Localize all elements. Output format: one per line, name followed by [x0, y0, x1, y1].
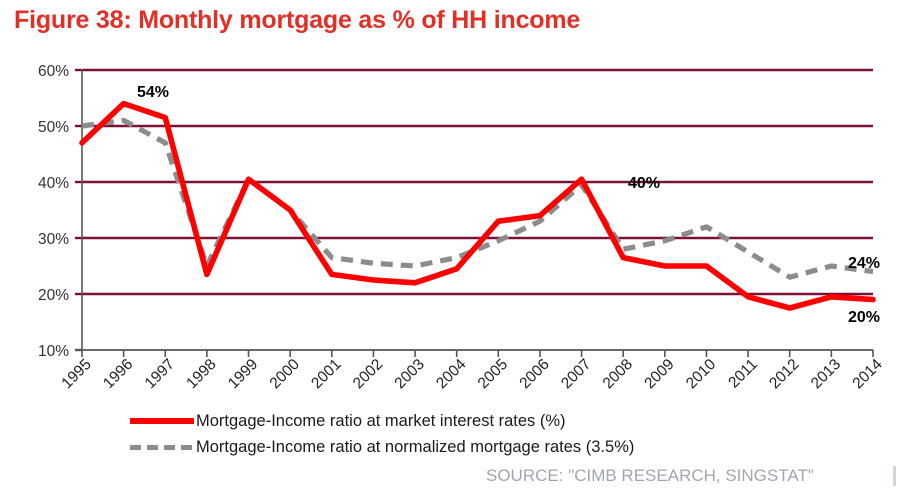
- svg-text:2012: 2012: [766, 356, 802, 392]
- svg-text:50%: 50%: [38, 119, 69, 136]
- svg-text:20%: 20%: [38, 287, 69, 304]
- svg-text:2005: 2005: [475, 356, 511, 392]
- figure-container: Figure 38: Monthly mortgage as % of HH i…: [0, 0, 900, 498]
- legend-label-market: Mortgage-Income ratio at market interest…: [196, 412, 566, 431]
- svg-text:2004: 2004: [433, 356, 470, 393]
- series-line-market: [82, 104, 873, 308]
- svg-text:1998: 1998: [183, 356, 219, 392]
- svg-text:2000: 2000: [267, 356, 304, 393]
- svg-text:1997: 1997: [142, 356, 178, 392]
- svg-text:1995: 1995: [58, 356, 94, 392]
- chart-legend: Mortgage-Income ratio at market interest…: [128, 408, 868, 460]
- y-tick-marks-group: [75, 70, 82, 350]
- svg-text:2008: 2008: [600, 356, 636, 392]
- svg-text:2009: 2009: [641, 356, 677, 392]
- svg-text:40%: 40%: [628, 175, 660, 192]
- svg-text:10%: 10%: [38, 343, 69, 360]
- svg-text:2014: 2014: [849, 356, 886, 393]
- legend-item-normalized: Mortgage-Income ratio at normalized mort…: [128, 434, 868, 460]
- svg-text:2011: 2011: [725, 356, 761, 392]
- legend-item-market: Mortgage-Income ratio at market interest…: [128, 408, 868, 434]
- legend-label-normalized: Mortgage-Income ratio at normalized mort…: [196, 438, 634, 457]
- svg-text:24%: 24%: [848, 255, 880, 272]
- svg-text:2003: 2003: [391, 356, 427, 392]
- svg-text:1996: 1996: [100, 356, 136, 392]
- axis-frame: [82, 69, 873, 350]
- legend-swatch-solid-line-icon: [128, 412, 196, 430]
- svg-text:2006: 2006: [516, 356, 552, 392]
- svg-text:2013: 2013: [808, 356, 844, 392]
- svg-text:2001: 2001: [308, 356, 344, 392]
- x-axis-labels-group: 1995199619971998199920002001200220032004…: [58, 356, 886, 393]
- svg-text:40%: 40%: [38, 175, 69, 192]
- y-axis-labels-group: 10%20%30%40%50%60%: [38, 63, 69, 360]
- data-labels-group: 54%40%24%20%: [137, 84, 880, 326]
- svg-text:1999: 1999: [225, 356, 261, 392]
- svg-text:54%: 54%: [137, 84, 169, 101]
- svg-text:2002: 2002: [350, 356, 386, 392]
- svg-text:2007: 2007: [558, 356, 594, 392]
- source-edge-marker: [893, 466, 896, 486]
- x-tick-marks-group: [82, 350, 873, 357]
- svg-text:30%: 30%: [38, 231, 69, 248]
- source-note: SOURCE: "CIMB RESEARCH, SINGSTAT": [486, 466, 814, 486]
- svg-text:2010: 2010: [683, 356, 720, 393]
- svg-text:20%: 20%: [848, 309, 880, 326]
- svg-text:60%: 60%: [38, 63, 69, 80]
- legend-swatch-dashed-line-icon: [128, 438, 196, 456]
